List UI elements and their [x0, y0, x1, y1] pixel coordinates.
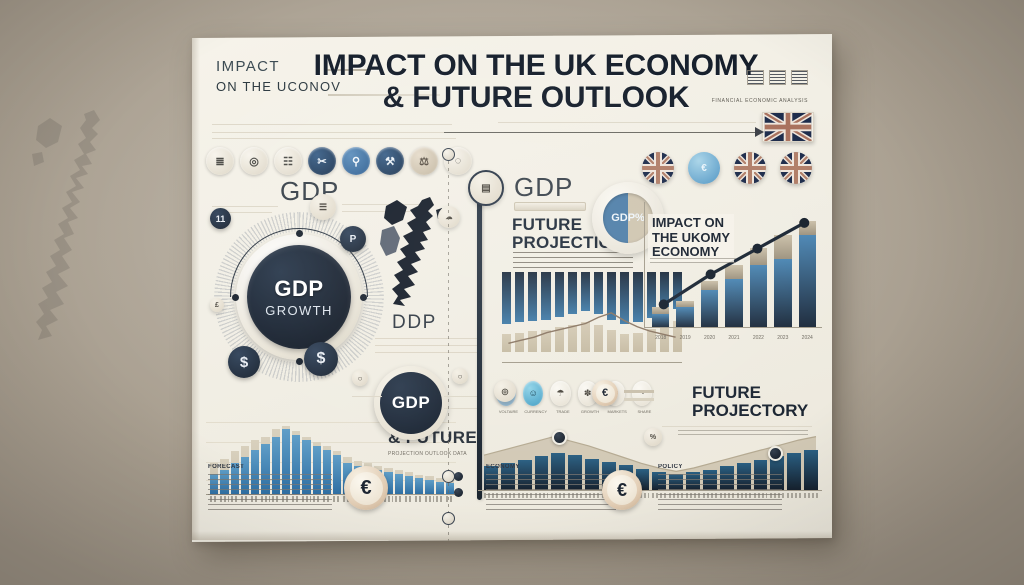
mini-badge-p: P — [340, 226, 366, 252]
tools-icon[interactable]: ⚒ — [376, 147, 404, 175]
euro-coin-left: € — [344, 466, 388, 510]
mini-badge-cloud: ☁ — [438, 206, 460, 228]
mark-icon-2 — [769, 70, 786, 85]
v-chart-bar — [804, 450, 818, 490]
hairline-5 — [212, 206, 278, 207]
dial-node-top — [296, 230, 303, 237]
footer-block-2: ECONOMY — [486, 464, 616, 514]
footer-dot-1 — [454, 472, 463, 481]
footer-block-1: FORECAST — [208, 464, 332, 514]
footer-heading-3: POLICY — [658, 464, 782, 470]
center-dotted-line — [448, 154, 449, 542]
fpj-line2: PROJECTORY — [692, 402, 808, 420]
divider-badge-icon: ▤ — [468, 170, 504, 206]
map-label: DDP — [392, 312, 437, 334]
future-projections-subtext — [513, 252, 633, 272]
mini-badge-11: 11 — [210, 208, 231, 229]
impact-callout-subtext — [650, 258, 736, 266]
dial-label-bottom: GROWTH — [265, 303, 333, 318]
mark-icon-3 — [791, 70, 808, 85]
impact-line2: THE UKOMY — [652, 231, 730, 246]
impact-line1: IMPACT ON — [652, 216, 730, 231]
hairline-4 — [498, 122, 756, 123]
title-line-2: & FUTURE OUTLOOK — [296, 82, 776, 114]
left-chart-tick — [446, 496, 454, 502]
page-title: IMPACT ON THE UK ECONOMY & FUTURE OUTLOO… — [296, 50, 776, 115]
infographic-poster: IMPACT ON THE UCONOV IMPACT ON THE UK EC… — [192, 34, 832, 542]
euro-coin-right: € — [602, 470, 642, 510]
v-marker-left — [552, 430, 567, 445]
masthead-caption: FINANCIAL ECONOMIC ANALYSIS — [712, 98, 808, 104]
euro-badge[interactable]: €508 — [688, 152, 720, 184]
future-tag-sub: PROJECTION OUTLOOK DATA — [388, 451, 484, 457]
fpj-line1: FUTURE — [692, 384, 808, 402]
icon-badge-row: ≣◎☷✂⚲⚒⚖◌ — [206, 144, 476, 178]
hairline-1 — [212, 124, 452, 125]
dial-node-left — [232, 294, 239, 301]
wall-uk-map-decoration — [28, 108, 146, 348]
mini-node-left: ○ — [352, 370, 368, 386]
left-chart-tick — [395, 496, 403, 502]
masthead-marks — [734, 60, 808, 94]
left-chart-tick — [436, 496, 444, 502]
dial-node-bottom — [296, 358, 303, 365]
v-chart-tick — [804, 493, 818, 498]
euro-coin-left-glyph: € — [350, 472, 383, 505]
v-chart-bar — [787, 453, 801, 490]
mini-node-right: ○ — [452, 368, 468, 384]
pie-icon[interactable]: ◔SHARE — [632, 381, 652, 406]
footer-body-1 — [208, 474, 332, 514]
v-chart-tick — [787, 493, 801, 498]
chart-icon[interactable]: ≣ — [206, 147, 234, 175]
icon-caption: SHARE — [628, 409, 661, 414]
uk-flag-icon — [762, 112, 814, 142]
scales-icon[interactable]: ⚖ — [410, 147, 438, 175]
umbrella-icon[interactable]: ☂TRADE — [550, 381, 570, 406]
gdp-heading-right: GDP — [514, 172, 573, 203]
hairline-3 — [212, 138, 456, 139]
uk-flag-badge-3[interactable]: 1028 — [780, 152, 812, 184]
mini-badge-chart: ☰ — [310, 194, 336, 220]
small-icon-row: ✎VOLTAIRE☺CURRENCY☂TRADE✽GROWTH⚙MARKETS◔… — [496, 376, 652, 410]
impact-callout: IMPACT ON THE UKOMY ECONOMY — [648, 214, 734, 262]
divider-node-top — [442, 148, 455, 161]
flag-badge-row: 3556€5083981028 — [642, 146, 826, 190]
figure-icon[interactable]: ⚲ — [342, 147, 370, 175]
dial-label-top: GDP — [274, 276, 323, 302]
hairline-2 — [212, 132, 444, 133]
smiley-icon[interactable]: ☺CURRENCY — [523, 381, 543, 406]
footer-body-3 — [658, 474, 782, 514]
future-projectory-title: FUTURE PROJECTORY — [692, 384, 808, 420]
v-marker-right — [768, 446, 783, 461]
title-line-1: IMPACT ON THE UK ECONOMY — [314, 49, 759, 82]
gdp-progress-bar — [514, 202, 586, 211]
poster-edge-left — [192, 36, 200, 540]
target-icon[interactable]: ◎ — [240, 147, 268, 175]
gdp-circle-secondary: GDP — [374, 366, 448, 440]
left-chart-tick — [405, 496, 413, 502]
fp-line1: FUTURE — [512, 215, 582, 234]
left-chart-bar — [333, 420, 341, 494]
left-chart-tick — [415, 496, 423, 502]
timeline-arrow-head — [755, 127, 764, 137]
dial-node-right — [360, 294, 367, 301]
footer-heading-2: ECONOMY — [486, 464, 616, 470]
mini-badge-pound: £ — [210, 298, 224, 312]
footer-body-2 — [486, 474, 616, 514]
scissors-icon[interactable]: ✂ — [308, 147, 336, 175]
grid-icon[interactable]: ☷ — [274, 147, 302, 175]
dial-core: GDP GROWTH — [247, 245, 351, 349]
mini-badge-left-row: ◎ — [494, 380, 516, 402]
left-chart-tick — [333, 496, 341, 502]
footer-dot-2 — [454, 488, 463, 497]
euro-coin-right-glyph: € — [607, 475, 637, 505]
footer-block-3: POLICY — [658, 464, 782, 514]
dollar-badge-left: $ — [228, 346, 260, 378]
scene-root: IMPACT ON THE UCONOV IMPACT ON THE UK EC… — [0, 0, 1024, 585]
gdp-circle-label: GDP — [380, 372, 442, 434]
left-chart-tick — [425, 496, 433, 502]
uk-flag-badge-1[interactable]: 3556 — [642, 152, 674, 184]
dollar-badge-right: $ — [304, 342, 338, 376]
divider-node-foot — [442, 512, 455, 525]
poster-edge-bottom — [192, 531, 832, 540]
uk-flag-badge-2[interactable]: 398 — [734, 152, 766, 184]
mark-icon-1 — [747, 70, 764, 85]
coin-small-icon: € — [592, 380, 618, 406]
footer-heading-1: FORECAST — [208, 464, 332, 470]
